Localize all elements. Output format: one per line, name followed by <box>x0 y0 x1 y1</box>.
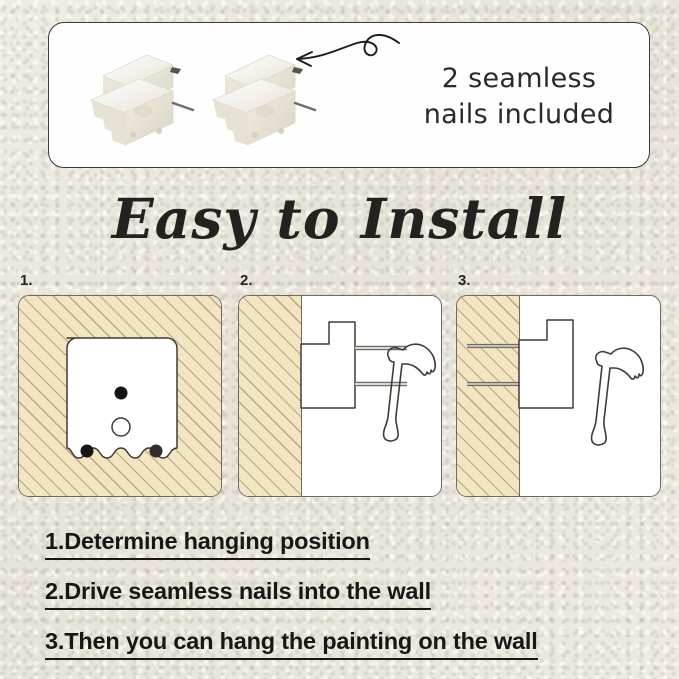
marker-dot-top <box>115 387 128 400</box>
step-panel-2 <box>238 295 442 497</box>
step-number-1: 1. <box>20 272 33 289</box>
instruction-caption-3: 3.Then you can hang the painting on the … <box>45 628 538 660</box>
nails-caption-line-2: nails included <box>399 97 639 133</box>
step-number-3: 3. <box>458 272 471 289</box>
hammer-icon <box>384 344 436 441</box>
nails-included-caption: 2 seamless nails included <box>399 61 639 134</box>
seamless-nail-hook-left-image <box>77 43 197 153</box>
step-number-2: 2. <box>240 272 253 289</box>
page-title: Easy to Install <box>0 186 679 251</box>
nail-and-hammer-diagram <box>239 296 442 497</box>
seamless-nails-card: 2 seamless nails included <box>48 22 650 168</box>
nail-installed-diagram <box>457 296 661 497</box>
step-panel-3 <box>456 295 661 497</box>
step-panel-1 <box>18 295 222 497</box>
hammer-icon <box>592 348 644 445</box>
nails-caption-line-1: 2 seamless <box>399 61 639 97</box>
marker-dot-left <box>81 445 94 458</box>
instruction-caption-1: 1.Determine hanging position <box>45 528 370 560</box>
instruction-caption-2: 2.Drive seamless nails into the wall <box>45 578 431 610</box>
marker-dot-right <box>150 445 163 458</box>
mounting-plate-diagram <box>19 296 222 497</box>
curved-loop-arrow-icon <box>271 25 411 85</box>
